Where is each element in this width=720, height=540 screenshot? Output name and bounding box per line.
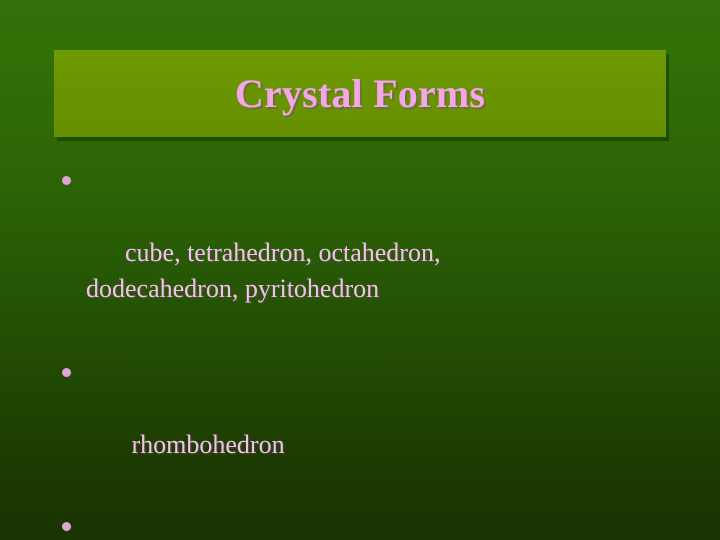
bullet-dot-icon — [62, 522, 71, 531]
bullet-dot-icon — [62, 176, 71, 185]
list-item-label: cube, tetrahedron, octahedron, dodecahed… — [86, 238, 447, 303]
list-item: rhombohedron — [56, 355, 656, 499]
list-item-label: rhombohedron — [125, 430, 285, 459]
list-item: cube, tetrahedron, octahedron, dodecahed… — [56, 163, 516, 343]
presentation-slide: Crystal Forms cube, tetrahedron, octahed… — [0, 0, 720, 540]
slide-title-band: Crystal Forms — [54, 50, 666, 137]
slide-title: Crystal Forms — [235, 70, 485, 117]
slide-bullet-list: cube, tetrahedron, octahedron, dodecahed… — [56, 163, 656, 540]
bullet-dot-icon — [62, 368, 71, 377]
list-item: prism — [56, 509, 656, 540]
